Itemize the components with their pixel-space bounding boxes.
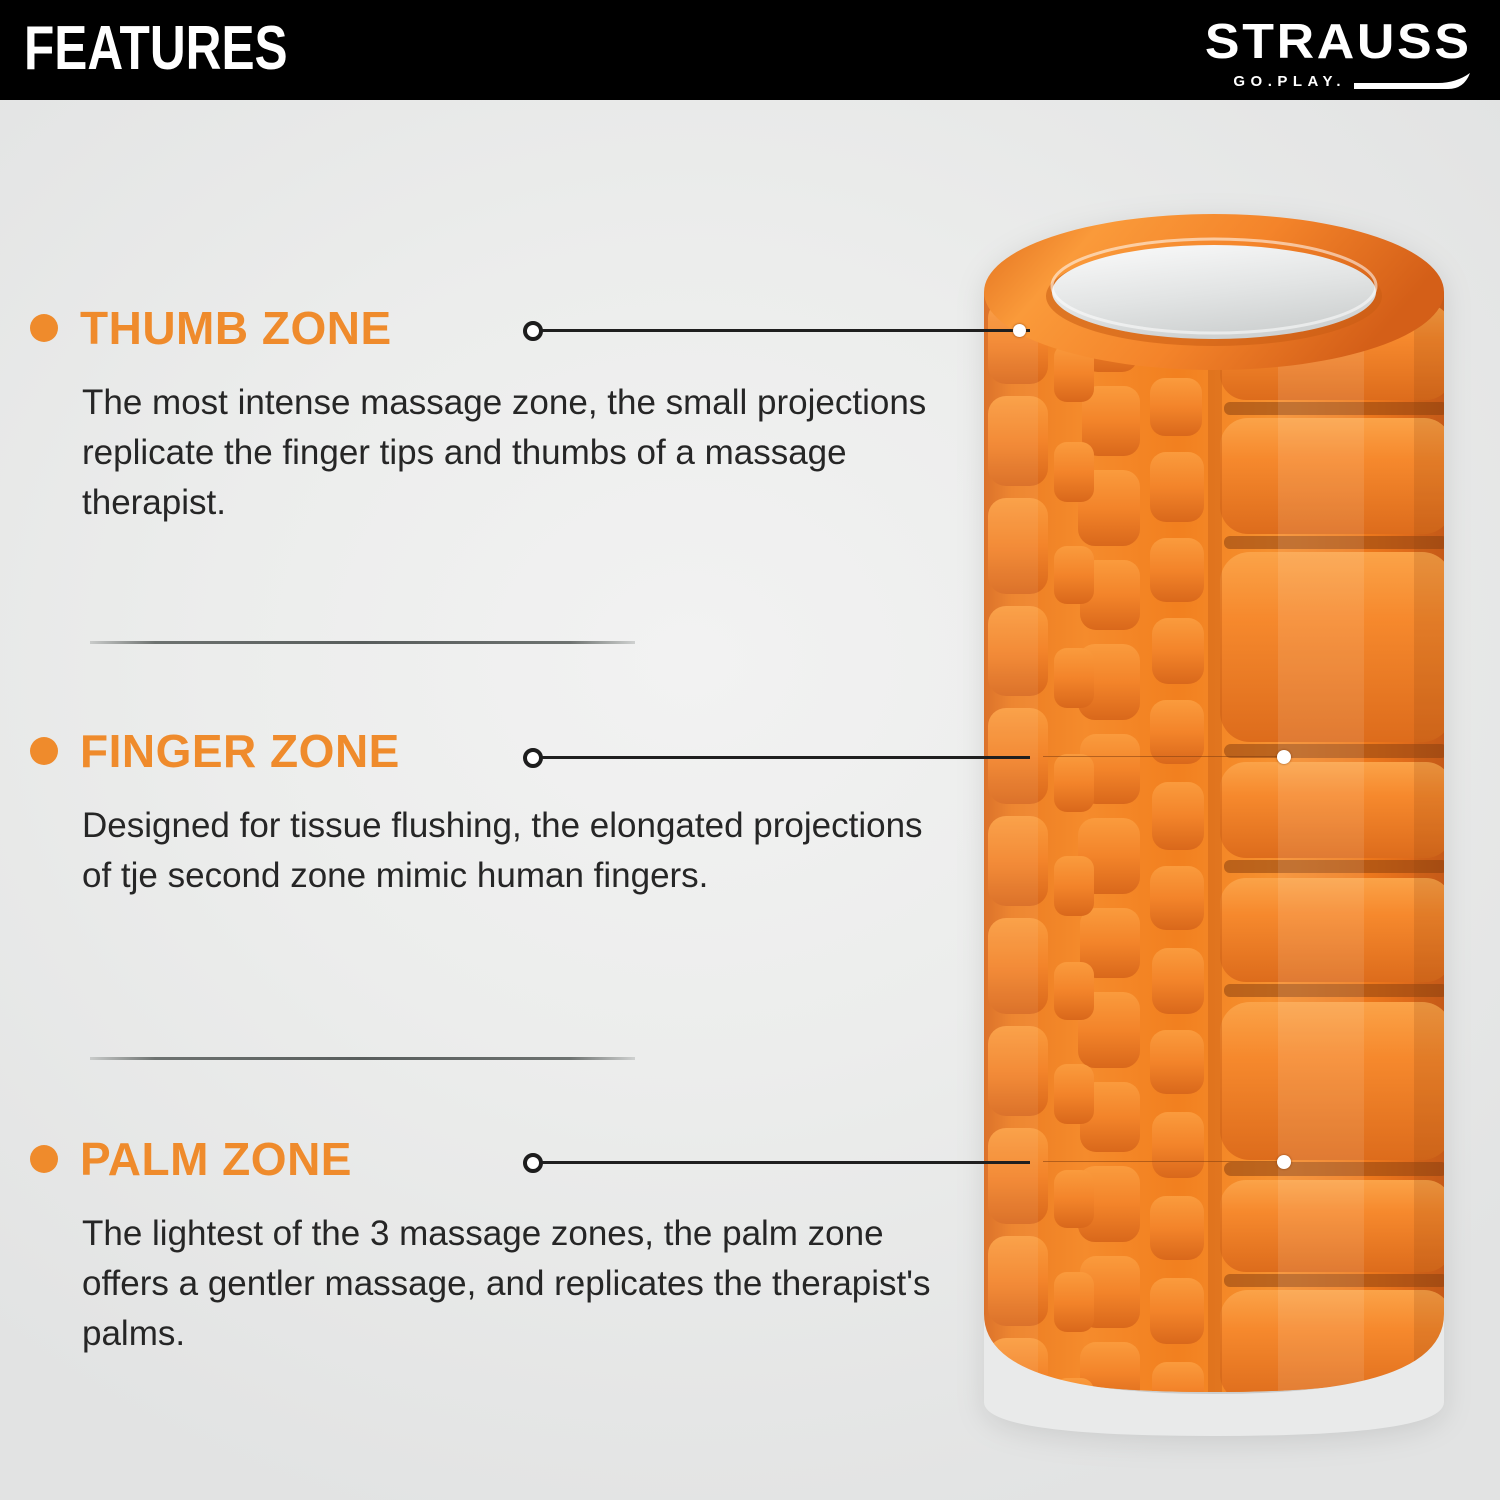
callout-line-overlay-finger [1043,752,1045,753]
foam-roller-illustration [962,196,1466,1436]
brand-tagline: GO.PLAY. [1233,73,1346,90]
bullet-dot-icon [30,737,58,765]
feature-title: FINGER ZONE [80,727,400,775]
brand-name: STRAUSS [1205,14,1472,70]
feature-title: PALM ZONE [80,1135,352,1183]
brand-logo: STRAUSS GO.PLAY. [1052,14,1472,90]
feature-title: THUMB ZONE [80,304,392,352]
callout-tip-palm-zone [1277,1155,1291,1169]
bullet-dot-icon [30,1145,58,1173]
callout-leader-thumb-zone [523,318,1043,344]
section-divider [90,1057,635,1060]
callout-ring-icon [523,321,543,341]
feature-description: The lightest of the 3 massage zones, the… [82,1209,952,1359]
bullet-dot-icon [30,314,58,342]
page-background: FEATURES STRAUSS GO.PLAY. THUMB ZONE The… [0,0,1500,1500]
callout-tip-thumb-zone [1013,324,1026,337]
callout-ring-icon [523,748,543,768]
section-divider [90,641,635,644]
brand-tagline-row: GO.PLAY. [1233,70,1472,92]
callout-line-overlay-palm [1043,1157,1045,1158]
callout-leader-finger-zone [523,745,1043,771]
callout-tip-finger-zone [1277,750,1291,764]
feature-description: Designed for tissue flushing, the elonga… [82,801,952,901]
feature-description: The most intense massage zone, the small… [82,378,952,528]
callout-ring-icon [523,1153,543,1173]
callout-leader-palm-zone [523,1150,1043,1176]
callout-line [542,756,1030,759]
swoosh-icon [1352,70,1472,92]
product-image-foam-roller [962,196,1466,1436]
header-bar: FEATURES STRAUSS GO.PLAY. [0,0,1500,100]
callout-line [542,329,1030,332]
callout-line [542,1161,1030,1164]
page-title: FEATURES [24,16,288,82]
